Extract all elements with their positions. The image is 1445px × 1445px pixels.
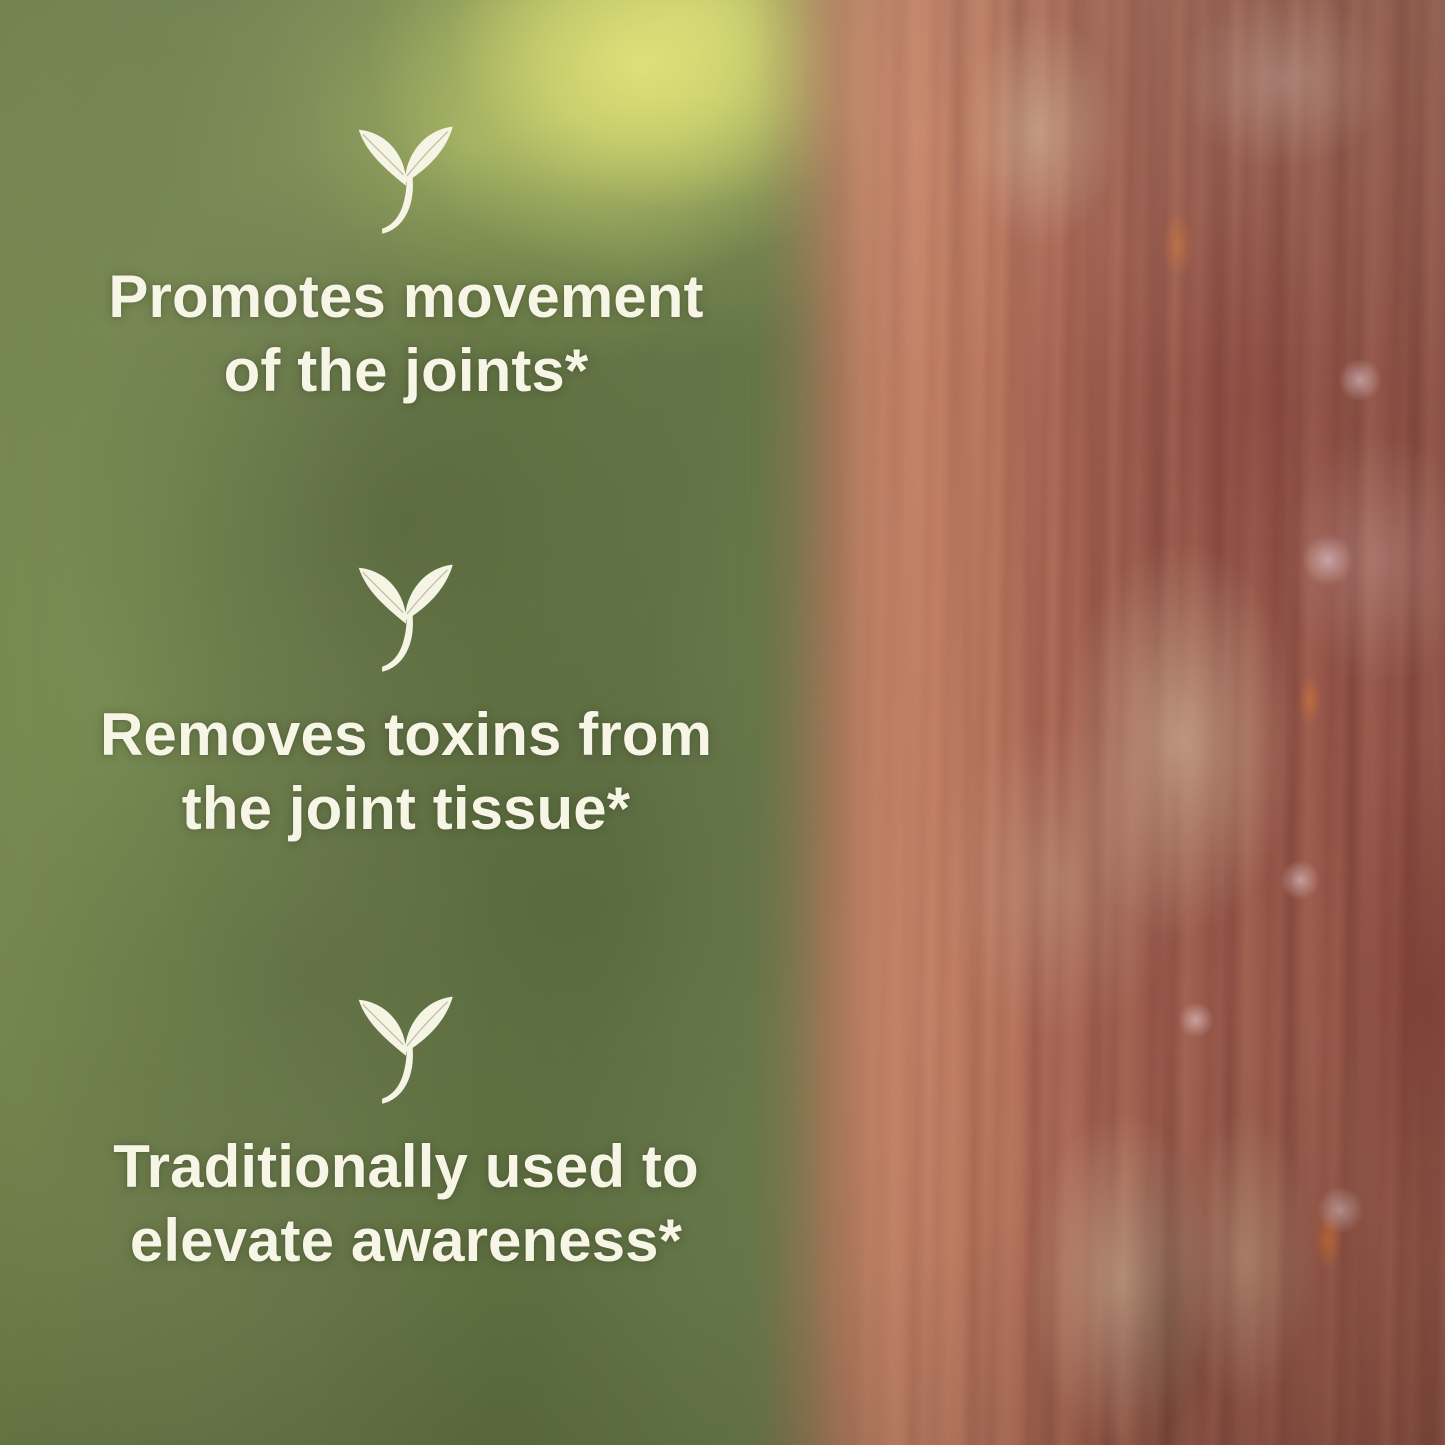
- sprout-leaf-icon: [345, 556, 467, 678]
- sprout-leaf-icon: [345, 118, 467, 240]
- benefit-text: Traditionally used to elevate awareness*: [0, 1130, 812, 1278]
- benefit-text-line-1: Promotes movement: [108, 263, 703, 330]
- sprout-leaf-icon: [345, 988, 467, 1110]
- lifestyle-benefits-graphic: Promotes movement of the joints* Removes…: [0, 0, 1445, 1445]
- benefit-text: Promotes movement of the joints*: [0, 260, 812, 408]
- benefit-text-line-1: Traditionally used to: [113, 1133, 699, 1200]
- benefit-item: Promotes movement of the joints*: [0, 118, 812, 408]
- benefits-column: Promotes movement of the joints* Removes…: [0, 0, 812, 1445]
- benefit-text: Removes toxins from the joint tissue*: [0, 698, 812, 846]
- benefit-text-line-2: of the joints*: [224, 337, 589, 404]
- benefit-text-line-1: Removes toxins from: [100, 701, 712, 768]
- benefit-text-line-2: the joint tissue*: [182, 775, 630, 842]
- benefit-item: Removes toxins from the joint tissue*: [0, 556, 812, 846]
- benefit-text-line-2: elevate awareness*: [130, 1207, 682, 1274]
- benefit-item: Traditionally used to elevate awareness*: [0, 988, 812, 1278]
